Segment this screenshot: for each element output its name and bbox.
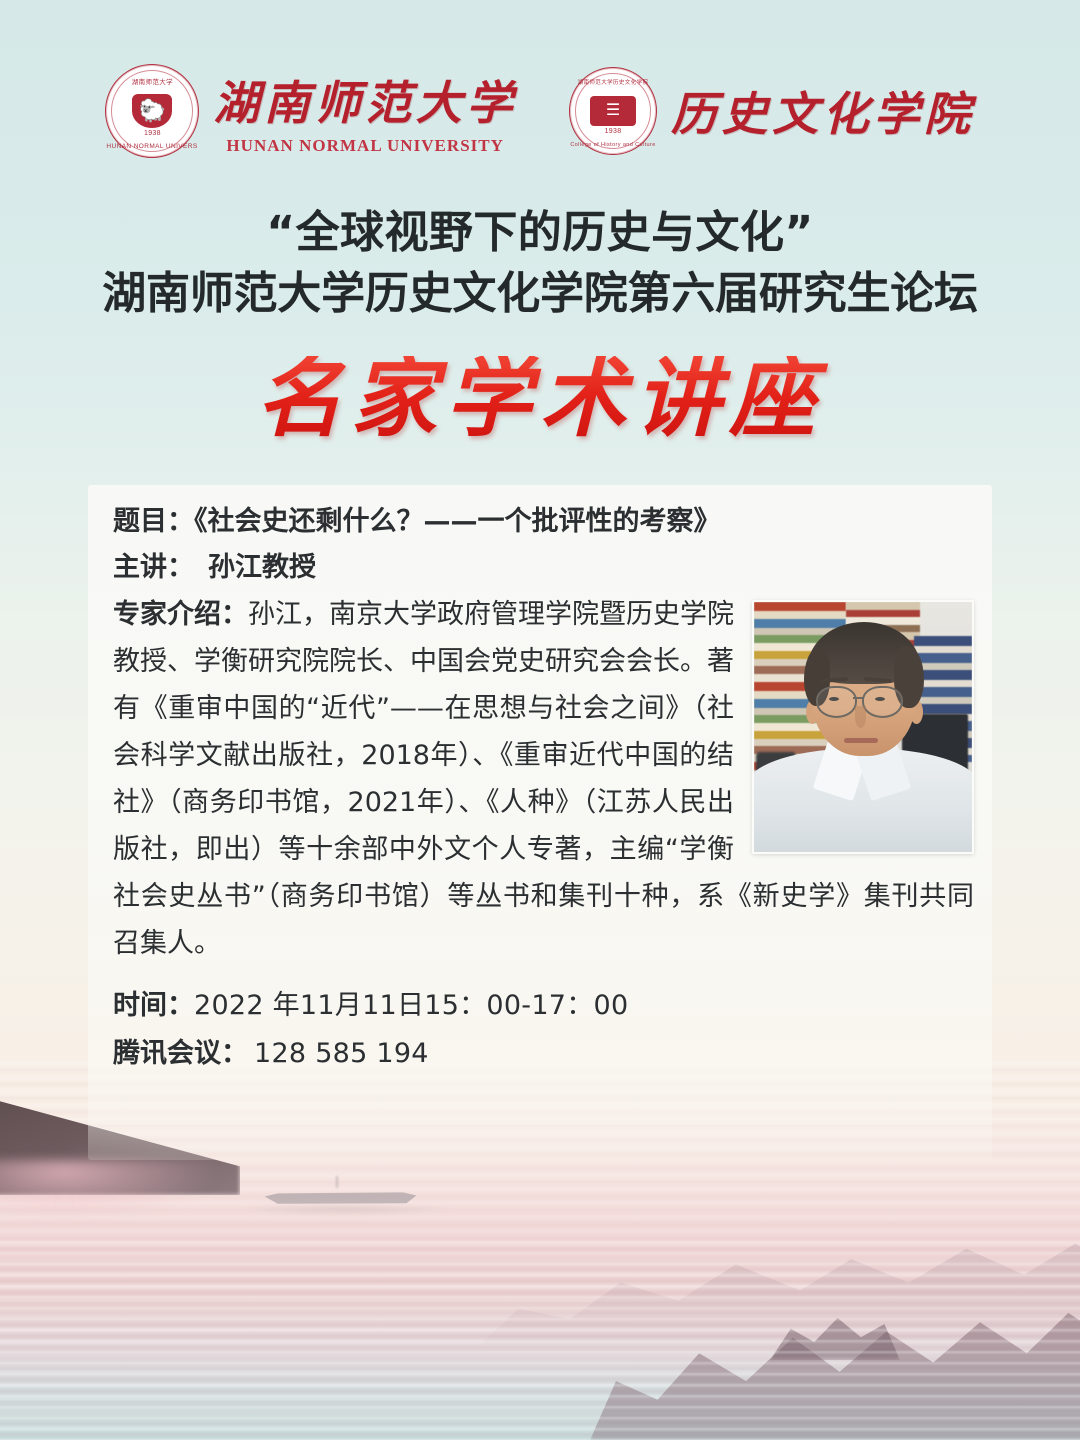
college-seal-icon: 湖南师范大学历史文化学院 ☰ 1938 College of History a…	[569, 67, 657, 155]
university-name-en: HUNAN NORMAL UNIVERSITY	[213, 136, 517, 156]
forum-theme-title: “全球视野下的历史与文化”	[0, 206, 1080, 260]
boat-ripple	[240, 1206, 450, 1216]
portrait-glasses-left	[816, 686, 857, 718]
topic-row: 题目：《社会史还剩什么？——一个批评性的考察》	[113, 499, 974, 545]
time-value: 2022 年11月11日15：00-17：00	[194, 990, 628, 1021]
logo-hunan-normal-university: 湖南师范大学 🐑 1938 HUNAN NORMAL UNIVERSITY 湖南…	[105, 64, 517, 158]
seal-year: 1938	[605, 128, 622, 135]
portrait-nose	[855, 706, 866, 728]
college-wordmark: 历史文化学院	[671, 78, 975, 144]
seal-bottom-text: HUNAN NORMAL UNIVERSITY	[106, 143, 198, 150]
speaker-portrait	[752, 600, 974, 854]
college-name-cn: 历史文化学院	[671, 78, 975, 144]
time-row: 时间：2022 年11月11日15：00-17：00	[113, 982, 974, 1031]
water-streaks	[0, 1240, 1080, 1440]
seal-top-text: 湖南师范大学	[106, 76, 198, 86]
speaker-value: 孙江教授	[194, 552, 316, 583]
content-body: 题目：《社会史还剩什么？——一个批评性的考察》 主讲：孙江教授	[113, 499, 974, 1079]
meeting-value: 128 585 194	[248, 1038, 429, 1069]
seal-top-text: 湖南师范大学历史文化学院	[570, 78, 656, 86]
portrait-mouth	[844, 738, 878, 743]
expert-intro-paragraph: 专家介绍：孙江，南京大学政府管理学院暨历史学院教授、学衡研究院院长、中国会党史研…	[113, 592, 974, 968]
university-wordmark: 湖南师范大学 HUNAN NORMAL UNIVERSITY	[213, 67, 517, 156]
seal-bottom-text: College of History and Culture	[570, 142, 656, 148]
lecture-headline: 名家学术讲座	[0, 356, 1080, 442]
forum-subtitle: 湖南师范大学历史文化学院第六届研究生论坛	[0, 266, 1080, 321]
intro-label: 专家介绍：	[113, 599, 248, 630]
topic-label: 题目：	[113, 506, 194, 537]
left-peak-glow	[0, 1160, 220, 1220]
content-card: 题目：《社会史还剩什么？——一个批评性的考察》 主讲：孙江教授	[88, 485, 992, 1160]
speaker-row: 主讲：孙江教授	[113, 545, 974, 591]
time-label: 时间：	[113, 990, 194, 1021]
title-block: “全球视野下的历史与文化” 湖南师范大学历史文化学院第六届研究生论坛	[0, 206, 1080, 321]
seal-year: 1938	[144, 130, 161, 137]
speaker-label: 主讲：	[113, 552, 194, 583]
meeting-label: 腾讯会议：	[113, 1038, 248, 1069]
topic-value: 《社会史还剩什么？——一个批评性的考察》	[194, 506, 721, 537]
university-name-cn: 湖南师范大学	[213, 67, 517, 133]
university-seal-icon: 湖南师范大学 🐑 1938 HUNAN NORMAL UNIVERSITY	[105, 64, 199, 158]
logo-college-of-history-and-culture: 湖南师范大学历史文化学院 ☰ 1938 College of History a…	[569, 67, 975, 155]
portrait-glasses-right	[862, 686, 903, 718]
logo-row: 湖南师范大学 🐑 1938 HUNAN NORMAL UNIVERSITY 湖南…	[0, 52, 1080, 170]
meeting-row: 腾讯会议：128 585 194	[113, 1030, 974, 1079]
boat-mast	[336, 1176, 338, 1188]
portrait-glasses-bridge	[853, 697, 864, 699]
